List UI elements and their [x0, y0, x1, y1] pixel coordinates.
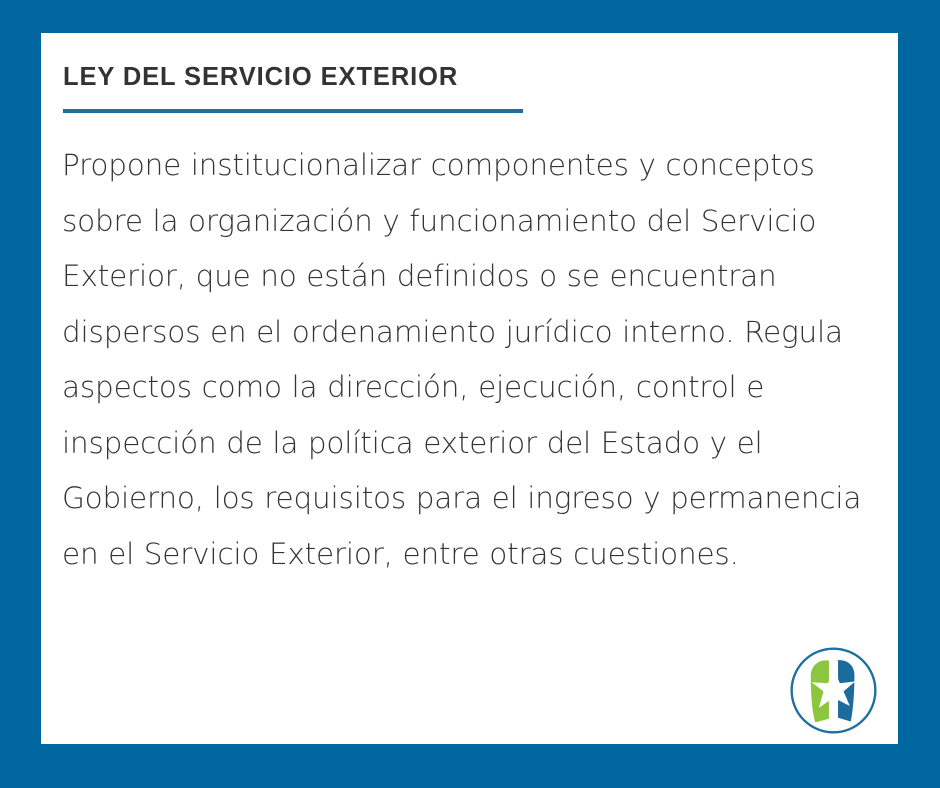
card-inner: LEY DEL SERVICIO EXTERIOR Propone instit…: [62, 63, 886, 744]
slide-canvas: LEY DEL SERVICIO EXTERIOR Propone instit…: [0, 0, 940, 788]
organization-logo: [788, 645, 879, 736]
title-underline-rule: [63, 109, 523, 113]
page-title: LEY DEL SERVICIO EXTERIOR: [62, 63, 886, 91]
body-paragraph: Propone institucionalizar componentes y …: [62, 138, 862, 582]
content-card: LEY DEL SERVICIO EXTERIOR Propone instit…: [41, 33, 898, 744]
